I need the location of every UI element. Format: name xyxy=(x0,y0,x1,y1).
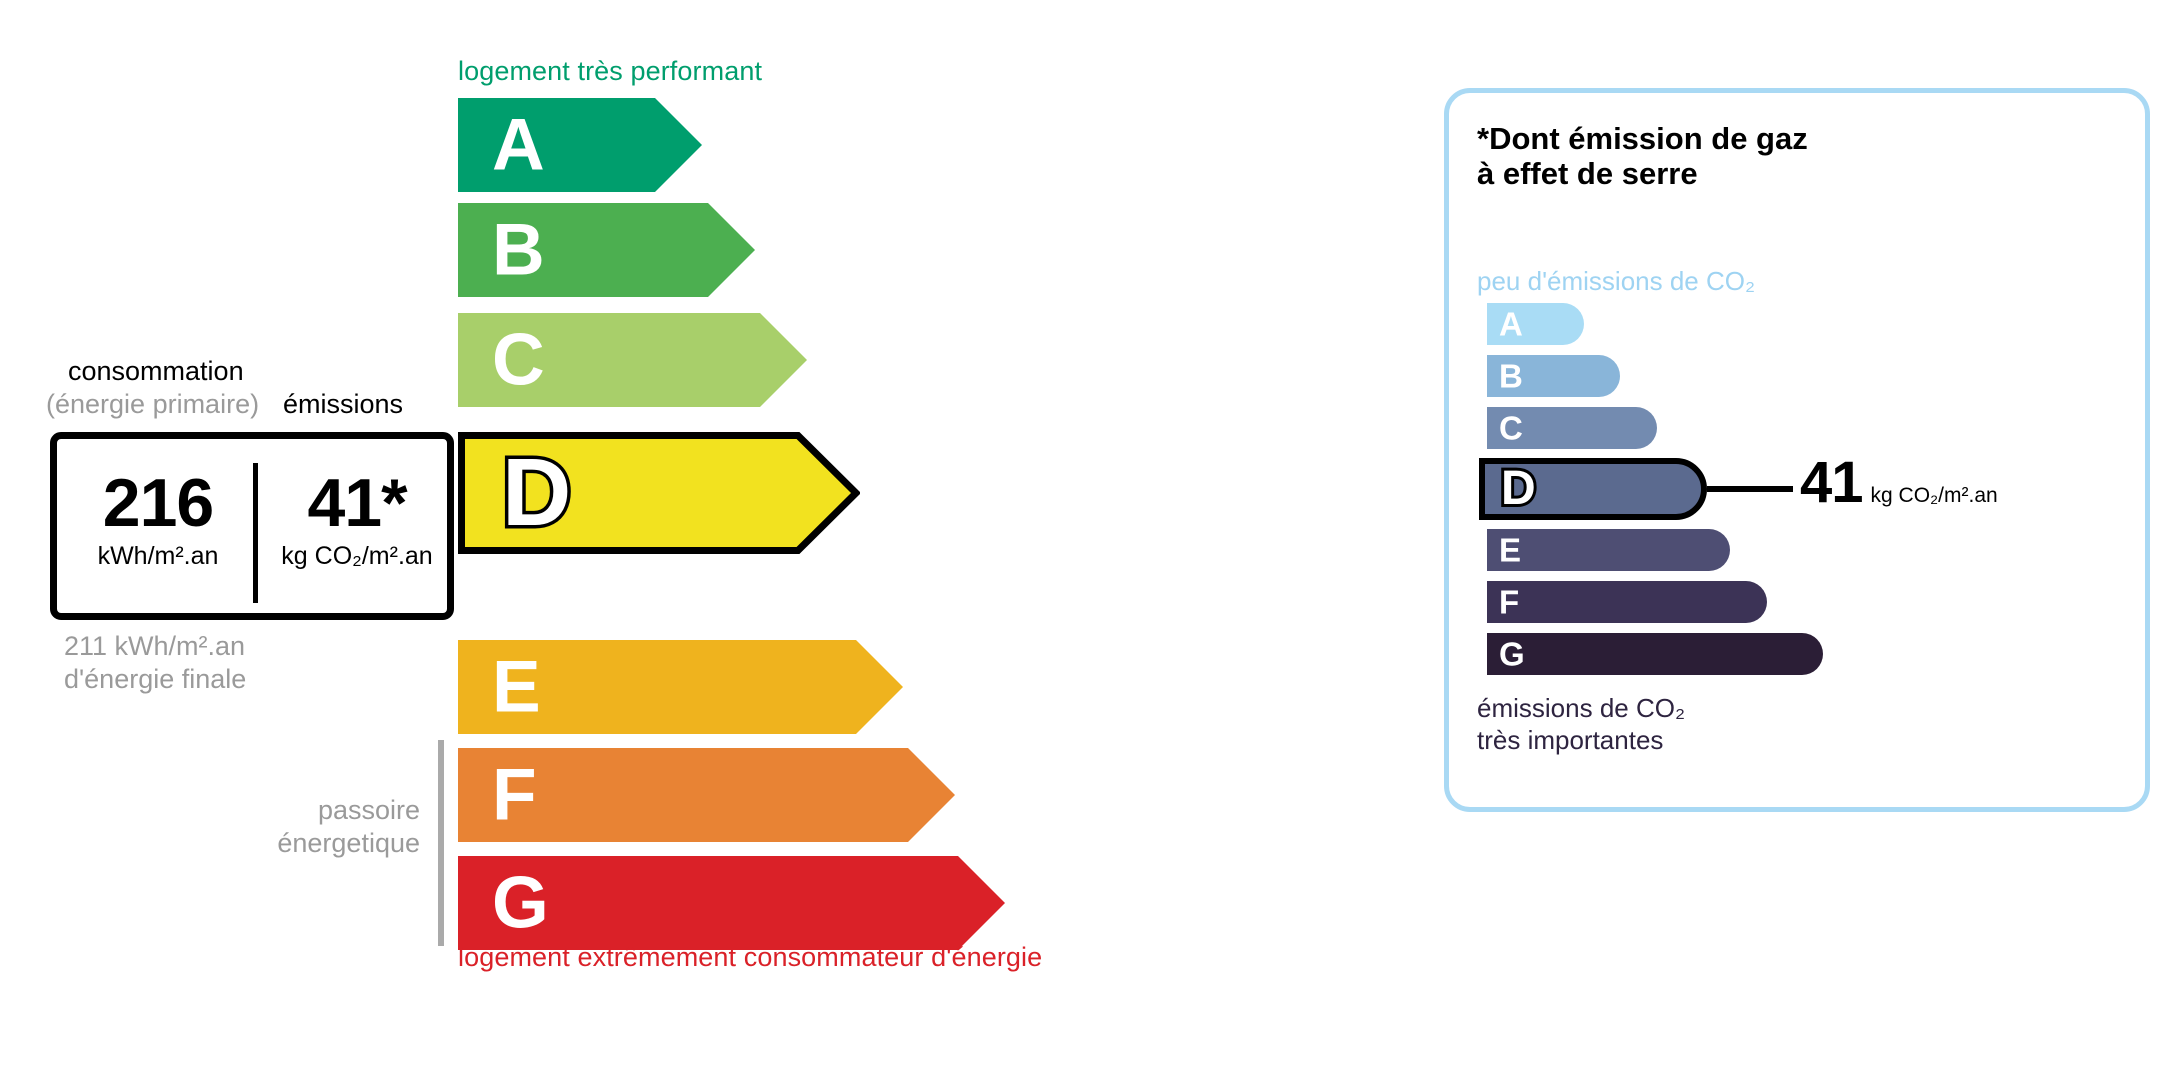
ges-bar-f-letter: F xyxy=(1499,586,1519,619)
energy-bar-f-letter: F xyxy=(492,759,537,832)
energy-bar-g-letter: G xyxy=(492,867,549,940)
ges-bottom-line2: très importantes xyxy=(1477,725,1685,757)
energy-bar-d-letter: D xyxy=(502,445,571,541)
ges-title-line2: à effet de serre xyxy=(1477,157,1808,192)
emissions-heading: émissions xyxy=(283,389,403,420)
ges-bar-d-letter: D xyxy=(1501,465,1536,513)
consumption-heading: consommation xyxy=(68,356,244,387)
final-energy-note: 211 kWh/m².an d'énergie finale xyxy=(64,630,246,697)
energy-scale-bottom-label: logement extrêmement consommateur d'éner… xyxy=(458,942,1042,973)
ges-top-label: peu d'émissions de CO₂ xyxy=(1477,266,1755,297)
ges-bar-b-letter: B xyxy=(1499,360,1523,393)
passoire-bracket-rule xyxy=(438,740,444,946)
passoire-line2: énergetique xyxy=(180,827,420,860)
ges-callout-unit: kg CO₂/m².an xyxy=(1871,484,1998,507)
ges-bar-f-shape xyxy=(1487,581,1767,623)
value-box: 216 kWh/m².an 41* kg CO₂/m².an xyxy=(50,432,454,620)
consumption-value-cell: 216 kWh/m².an xyxy=(63,465,253,571)
ges-bar-g-letter: G xyxy=(1499,638,1525,671)
consumption-value: 216 xyxy=(63,465,253,541)
final-energy-line2: d'énergie finale xyxy=(64,663,246,696)
ges-callout-value: 41 xyxy=(1800,450,1863,515)
emissions-value-cell: 41* kg CO₂/m².an xyxy=(261,465,453,571)
ges-title-line1: *Dont émission de gaz xyxy=(1477,122,1808,157)
energy-bar-e-letter: E xyxy=(492,651,541,724)
emissions-unit: kg CO₂/m².an xyxy=(261,543,453,571)
energy-bar-b-letter: B xyxy=(492,214,545,287)
passoire-line1: passoire xyxy=(180,794,420,827)
ges-callout: 41kg CO₂/m².an xyxy=(1800,449,1998,516)
ges-panel-title: *Dont émission de gaz à effet de serre xyxy=(1477,122,1808,191)
emissions-value: 41* xyxy=(261,465,453,541)
energy-scale-top-label: logement très performant xyxy=(458,56,762,87)
passoire-energetique-label: passoire énergetique xyxy=(180,794,420,861)
ges-bar-a-letter: A xyxy=(1499,308,1523,341)
ges-bottom-line1: émissions de CO₂ xyxy=(1477,693,1685,725)
energy-bar-c-letter: C xyxy=(492,324,545,397)
consumption-unit: kWh/m².an xyxy=(63,543,253,571)
final-energy-line1: 211 kWh/m².an xyxy=(64,630,246,663)
energy-bar-a-letter: A xyxy=(492,109,545,182)
ges-bar-e-shape xyxy=(1487,529,1730,571)
ges-bar-e-letter: E xyxy=(1499,534,1521,567)
ges-bottom-label: émissions de CO₂ très importantes xyxy=(1477,693,1685,756)
dpe-energy-label: logement très performant A B C D E xyxy=(0,0,2169,1079)
ges-callout-leader-line xyxy=(1707,486,1793,492)
value-box-divider xyxy=(253,463,258,603)
ges-bar-g-shape xyxy=(1487,633,1823,675)
consumption-subheading: (énergie primaire) xyxy=(46,389,259,420)
ges-bar-c-letter: C xyxy=(1499,412,1523,445)
